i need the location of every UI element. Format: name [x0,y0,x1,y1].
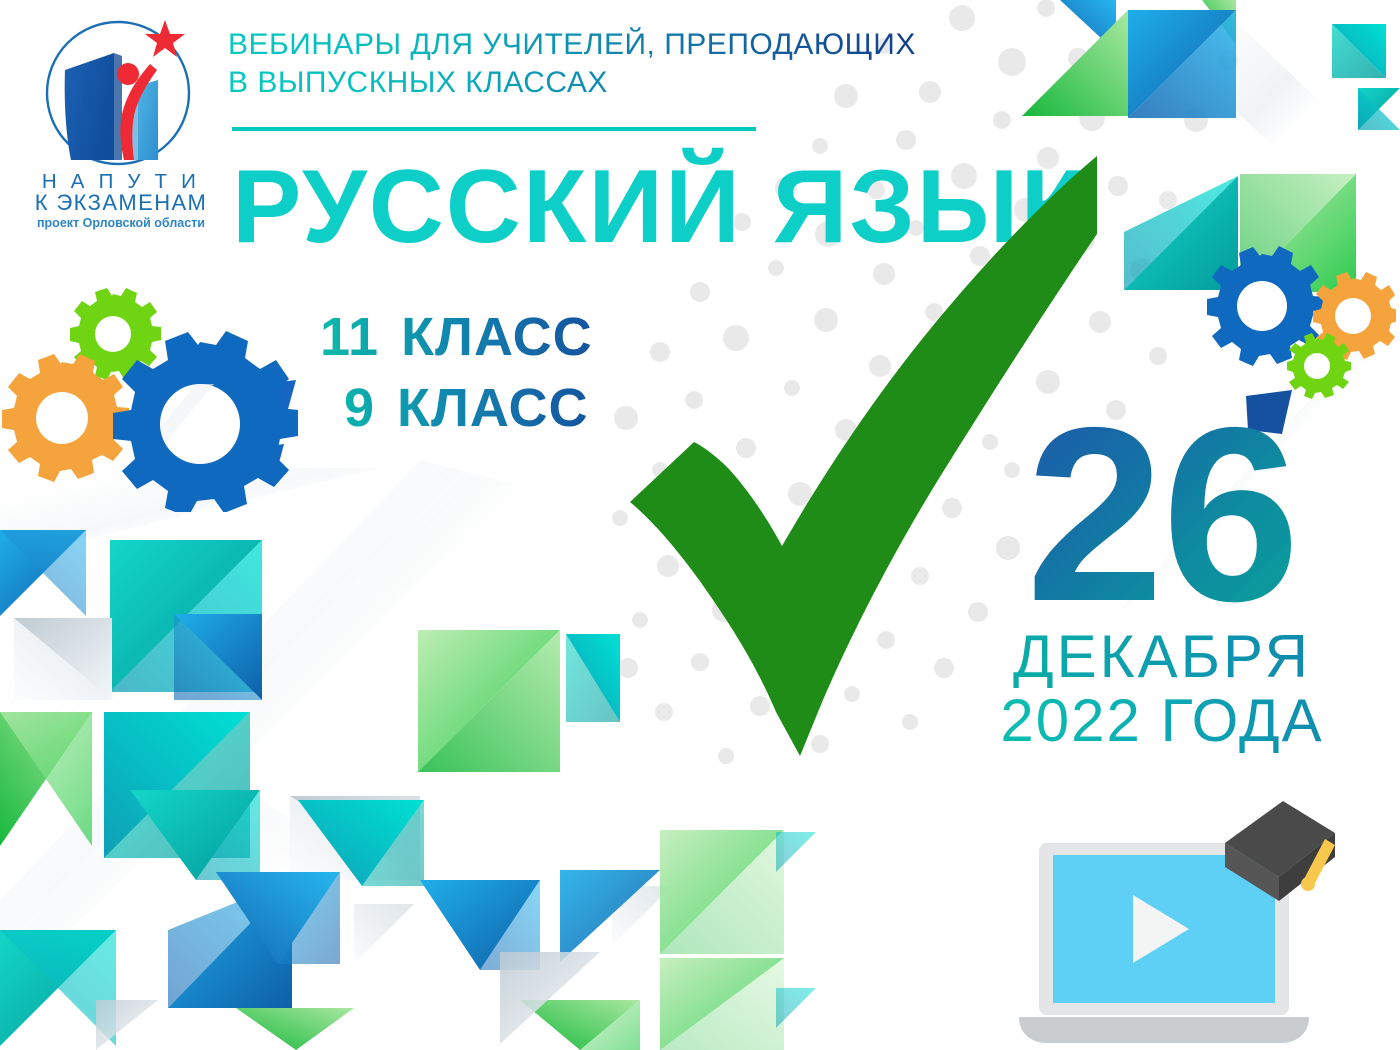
logo-figure-head [117,63,139,85]
logo-book-left [65,53,114,160]
class-label-11: КЛАСС [401,307,593,367]
triangles-bottom-left [0,530,672,1050]
header-line-2: В ВЫПУСКНЫХ КЛАССАХ [228,64,1048,102]
header-subtitle: ВЕБИНАРЫ ДЛЯ УЧИТЕЛЕЙ, ПРЕПОДАЮЩИХ В ВЫП… [228,26,1048,103]
class-number-9: 9 [344,378,375,438]
laptop-with-graduation-cap [995,785,1395,1050]
checkmark-shape [630,156,1097,756]
header-line-1: ВЕБИНАРЫ ДЛЯ УЧИТЕЛЕЙ, ПРЕПОДАЮЩИХ [228,26,1048,64]
poster-canvas: Н А П У Т И К ЭКЗАМЕНАМ проект Орловской… [0,0,1400,1050]
title-divider [232,127,756,131]
laptop-base [1019,1017,1309,1043]
logo-subtitle: проект Орловской области [37,216,205,230]
logo-line2: К ЭКЗАМЕНАМ [35,190,208,215]
brand-logo: Н А П У Т И К ЭКЗАМЕНАМ проект Орловской… [18,8,228,238]
class-label-9: КЛАСС [397,378,589,438]
gear-cluster-left [0,282,330,517]
green-checkmark [600,150,1100,775]
gear-cluster-right [1196,246,1396,411]
triangles-bottom-center [500,830,960,1050]
